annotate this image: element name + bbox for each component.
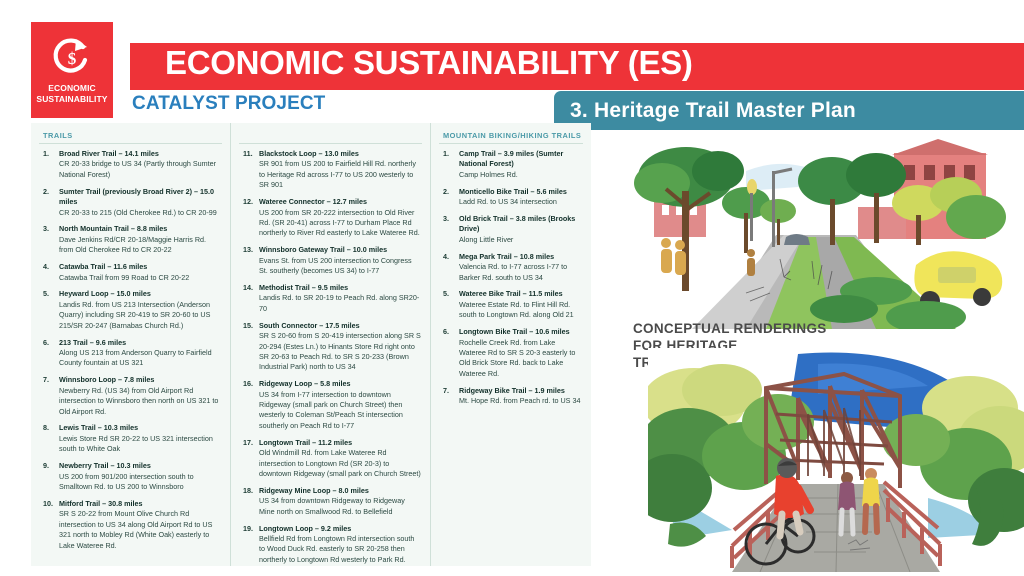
project-title-banner: 3. Heritage Trail Master Plan xyxy=(554,91,1024,130)
trail-item-body: Sumter Trail (previously Broad River 2) … xyxy=(59,187,222,218)
trail-item: 9.Newberry Trail – 10.3 milesUS 200 from… xyxy=(39,461,222,492)
trail-item: 11.Blackstock Loop – 13.0 milesSR 901 fr… xyxy=(239,149,422,191)
trail-item-description: US 200 from 901/200 intersection south t… xyxy=(59,472,222,493)
trail-item-number: 8. xyxy=(39,423,59,454)
trail-item-description: CR 20-33 to 215 (Old Cherokee Rd.) to CR… xyxy=(59,208,222,218)
trail-item-description: SR S 20-22 from Mount Olive Church Rd in… xyxy=(59,509,222,551)
trail-item-body: Longtown Trail – 11.2 milesOld Windmill … xyxy=(259,438,422,480)
trail-item-number: 19. xyxy=(239,524,259,566)
trail-item: 5.Heyward Loop – 15.0 milesLandis Rd. fr… xyxy=(39,289,222,331)
trail-item-description: Landis Rd. to SR 20-19 to Peach Rd. alon… xyxy=(259,293,422,314)
trail-item-title: Mitford Trail – 30.8 miles xyxy=(59,499,222,509)
trail-item-number: 4. xyxy=(39,262,59,283)
trail-item: 4.Mega Park Trail – 10.8 milesValencia R… xyxy=(439,252,583,283)
trail-item-body: Monticello Bike Trail – 5.6 milesLadd Rd… xyxy=(459,187,583,208)
trail-item-number: 10. xyxy=(39,499,59,551)
trail-item: 10.Mitford Trail – 30.8 milesSR S 20-22 … xyxy=(39,499,222,551)
trail-item-body: Camp Trail – 3.9 miles (Sumter National … xyxy=(459,149,583,180)
trail-item: 19.Longtown Loop – 9.2 milesBellfield Rd… xyxy=(239,524,422,566)
trail-item-description: Ladd Rd. to US 34 intersection xyxy=(459,197,583,207)
trail-item-number: 14. xyxy=(239,283,259,314)
trail-item-number: 12. xyxy=(239,197,259,239)
trail-item: 17.Longtown Trail – 11.2 milesOld Windmi… xyxy=(239,438,422,480)
trail-item-description: Along Little River xyxy=(459,235,583,245)
catalyst-project-subtitle: CATALYST PROJECT xyxy=(132,93,325,115)
trail-item-description: Old Windmill Rd. from Lake Wateree Rd in… xyxy=(259,448,422,479)
trail-item-number: 5. xyxy=(439,289,459,320)
trails-column-3: MOUNTAIN BIKING/HIKING TRAILS 1.Camp Tra… xyxy=(430,123,591,566)
trail-item-number: 1. xyxy=(39,149,59,180)
trail-item-description: US 34 from I-77 intersection to downtown… xyxy=(259,390,422,432)
trail-item-body: Catawba Trail – 11.6 milesCatawba Trail … xyxy=(59,262,222,283)
trail-item-body: Heyward Loop – 15.0 milesLandis Rd. from… xyxy=(59,289,222,331)
trail-item-number: 5. xyxy=(39,289,59,331)
trail-item-body: Methodist Trail – 9.5 milesLandis Rd. to… xyxy=(259,283,422,314)
trail-item-title: Methodist Trail – 9.5 miles xyxy=(259,283,422,293)
trail-item-body: Wateree Connector – 12.7 milesUS 200 fro… xyxy=(259,197,422,239)
logo-caption-line1: ECONOMIC xyxy=(31,83,113,94)
trail-item-number: 13. xyxy=(239,245,259,276)
trail-item-number: 16. xyxy=(239,379,259,431)
trail-item-number: 1. xyxy=(439,149,459,180)
renderings-caption-line1: CONCEPTUAL RENDERINGS xyxy=(633,320,827,337)
trail-item: 8.Lewis Trail – 10.3 milesLewis Store Rd… xyxy=(39,423,222,454)
trail-item-title: Ridgeway Bike Trail – 1.9 miles xyxy=(459,386,583,396)
trail-item-number: 7. xyxy=(39,375,59,417)
logo-caption: ECONOMIC SUSTAINABILITY xyxy=(31,83,113,105)
trail-item-body: Lewis Trail – 10.3 milesLewis Store Rd S… xyxy=(59,423,222,454)
header-red-bar: ECONOMIC SUSTAINABILITY (ES) xyxy=(130,43,1024,90)
trail-item-number: 6. xyxy=(39,338,59,369)
trails-column-1: TRAILS 1.Broad River Trail – 14.1 milesC… xyxy=(31,123,230,566)
trail-item-title: Longtown Loop – 9.2 miles xyxy=(259,524,422,534)
slide-root: ECONOMIC SUSTAINABILITY (ES) $ ECONOMIC … xyxy=(0,0,1024,576)
trails-column-2-header xyxy=(239,129,422,144)
trail-item-description: SR S 20-60 from S 20-419 intersection al… xyxy=(259,331,422,373)
trail-item-description: CR 20-33 bridge to US 34 (Partly through… xyxy=(59,159,222,180)
trail-item-description: Catawba Trail from 99 Road to CR 20-22 xyxy=(59,273,222,283)
trail-item-title: Mega Park Trail – 10.8 miles xyxy=(459,252,583,262)
trail-item: 5.Wateree Bike Trail – 11.5 milesWateree… xyxy=(439,289,583,320)
trail-item-number: 6. xyxy=(439,327,459,379)
trail-item-body: Ridgeway Loop – 5.8 milesUS 34 from I-77… xyxy=(259,379,422,431)
trail-item-title: South Connector – 17.5 miles xyxy=(259,321,422,331)
trail-item: 6.Longtown Bike Trail – 10.6 milesRochel… xyxy=(439,327,583,379)
trail-item-number: 2. xyxy=(39,187,59,218)
trail-item: 13.Winnsboro Gateway Trail – 10.0 milesE… xyxy=(239,245,422,276)
trail-item-description: Bellfield Rd from Longtown Rd intersecti… xyxy=(259,534,422,565)
trail-item-title: Longtown Trail – 11.2 miles xyxy=(259,438,422,448)
trail-item-body: Old Brick Trail – 3.8 miles (Brooks Driv… xyxy=(459,214,583,245)
trail-item-title: Winnsboro Gateway Trail – 10.0 miles xyxy=(259,245,422,255)
trail-item-description: Landis Rd. from US 213 Intersection (And… xyxy=(59,300,222,331)
trails-list-2: 11.Blackstock Loop – 13.0 milesSR 901 fr… xyxy=(239,149,422,565)
trail-item-number: 3. xyxy=(39,224,59,255)
trails-column-2: 11.Blackstock Loop – 13.0 milesSR 901 fr… xyxy=(230,123,430,566)
trail-item: 16.Ridgeway Loop – 5.8 milesUS 34 from I… xyxy=(239,379,422,431)
trail-item-description: Wateree Estate Rd. to Flint Hill Rd. sou… xyxy=(459,300,583,321)
trails-list-1: 1.Broad River Trail – 14.1 milesCR 20-33… xyxy=(39,149,222,551)
trails-list-3: 1.Camp Trail – 3.9 miles (Sumter Nationa… xyxy=(439,149,583,407)
trail-item-title: Newberry Trail – 10.3 miles xyxy=(59,461,222,471)
trail-item-description: US 34 from downtown Ridgeway to Ridgeway… xyxy=(259,496,422,517)
trail-item-body: Winnsboro Loop – 7.8 milesNewberry Rd. (… xyxy=(59,375,222,417)
logo-caption-line2: SUSTAINABILITY xyxy=(31,94,113,105)
trail-item-number: 18. xyxy=(239,486,259,517)
trail-item: 3.Old Brick Trail – 3.8 miles (Brooks Dr… xyxy=(439,214,583,245)
trail-item-title: Sumter Trail (previously Broad River 2) … xyxy=(59,187,222,208)
trail-item-body: Mitford Trail – 30.8 milesSR S 20-22 fro… xyxy=(59,499,222,551)
trail-item: 1.Camp Trail – 3.9 miles (Sumter Nationa… xyxy=(439,149,583,180)
trail-item-title: Heyward Loop – 15.0 miles xyxy=(59,289,222,299)
trail-item-title: Ridgeway Mine Loop – 8.0 miles xyxy=(259,486,422,496)
trail-item-title: Broad River Trail – 14.1 miles xyxy=(59,149,222,159)
trail-item-title: Camp Trail – 3.9 miles (Sumter National … xyxy=(459,149,583,170)
trail-item-description: Mt. Hope Rd. from Peach rd. to US 34 xyxy=(459,396,583,406)
trail-item-title: Longtown Bike Trail – 10.6 miles xyxy=(459,327,583,337)
trail-item: 4.Catawba Trail – 11.6 milesCatawba Trai… xyxy=(39,262,222,283)
trail-item-body: Winnsboro Gateway Trail – 10.0 milesEvan… xyxy=(259,245,422,276)
trail-item-description: Valencia Rd. to I-77 across I-77 to Bark… xyxy=(459,262,583,283)
trail-item-description: Along US 213 from Anderson Quarry to Fai… xyxy=(59,348,222,369)
trail-item: 2.Monticello Bike Trail – 5.6 milesLadd … xyxy=(439,187,583,208)
trail-item-body: Ridgeway Bike Trail – 1.9 milesMt. Hope … xyxy=(459,386,583,407)
trails-column-3-header: MOUNTAIN BIKING/HIKING TRAILS xyxy=(439,129,583,144)
trail-item-description: US 200 from SR 20-222 intersection to Ol… xyxy=(259,208,422,239)
trail-item-number: 15. xyxy=(239,321,259,373)
trail-item: 3.North Mountain Trail – 8.8 milesDave J… xyxy=(39,224,222,255)
trail-item: 7.Ridgeway Bike Trail – 1.9 milesMt. Hop… xyxy=(439,386,583,407)
trail-item-number: 3. xyxy=(439,214,459,245)
trail-item-body: Longtown Bike Trail – 10.6 milesRochelle… xyxy=(459,327,583,379)
trail-item-description: Rochelle Creek Rd. from Lake Wateree Rd … xyxy=(459,338,583,380)
trail-item: 2.Sumter Trail (previously Broad River 2… xyxy=(39,187,222,218)
trail-item-description: SR 901 from US 200 to Fairfield Hill Rd.… xyxy=(259,159,422,190)
trail-item-description: Dave Jenkins Rd/CR 20-18/Maggie Harris R… xyxy=(59,235,222,256)
page-title: ECONOMIC SUSTAINABILITY (ES) xyxy=(165,44,693,82)
economic-sustainability-logo: $ ECONOMIC SUSTAINABILITY xyxy=(31,22,113,118)
trail-item-body: Broad River Trail – 14.1 milesCR 20-33 b… xyxy=(59,149,222,180)
trail-item-number: 2. xyxy=(439,187,459,208)
trail-item: 15.South Connector – 17.5 milesSR S 20-6… xyxy=(239,321,422,373)
project-title-label: 3. Heritage Trail Master Plan xyxy=(554,99,856,123)
trail-item-title: Ridgeway Loop – 5.8 miles xyxy=(259,379,422,389)
trail-item-title: North Mountain Trail – 8.8 miles xyxy=(59,224,222,234)
trail-item-description: Lewis Store Rd SR 20-22 to US 321 inters… xyxy=(59,434,222,455)
trail-item-body: Newberry Trail – 10.3 milesUS 200 from 9… xyxy=(59,461,222,492)
trail-item-title: Catawba Trail – 11.6 miles xyxy=(59,262,222,272)
trail-item-description: Newberry Rd. (US 34) from Old Airport Rd… xyxy=(59,386,222,417)
bridge-rendering-image xyxy=(648,348,1024,572)
trail-item: 1.Broad River Trail – 14.1 milesCR 20-33… xyxy=(39,149,222,180)
trail-item: 12.Wateree Connector – 12.7 milesUS 200 … xyxy=(239,197,422,239)
trail-item-body: Longtown Loop – 9.2 milesBellfield Rd fr… xyxy=(259,524,422,566)
trail-item-title: Blackstock Loop – 13.0 miles xyxy=(259,149,422,159)
trail-item-title: Lewis Trail – 10.3 miles xyxy=(59,423,222,433)
trail-item: 7.Winnsboro Loop – 7.8 milesNewberry Rd.… xyxy=(39,375,222,417)
trail-item-body: 213 Trail – 9.6 milesAlong US 213 from A… xyxy=(59,338,222,369)
trail-item-number: 17. xyxy=(239,438,259,480)
trail-item-body: North Mountain Trail – 8.8 milesDave Jen… xyxy=(59,224,222,255)
trail-item-title: Wateree Connector – 12.7 miles xyxy=(259,197,422,207)
trail-item: 14.Methodist Trail – 9.5 milesLandis Rd.… xyxy=(239,283,422,314)
trail-item-body: Mega Park Trail – 10.8 milesValencia Rd.… xyxy=(459,252,583,283)
trail-item-number: 4. xyxy=(439,252,459,283)
trail-item: 18.Ridgeway Mine Loop – 8.0 milesUS 34 f… xyxy=(239,486,422,517)
trail-item-body: Ridgeway Mine Loop – 8.0 milesUS 34 from… xyxy=(259,486,422,517)
circular-arrow-dollar-icon: $ xyxy=(31,34,113,80)
trail-item-description: Camp Holmes Rd. xyxy=(459,170,583,180)
trail-item-body: Blackstock Loop – 13.0 milesSR 901 from … xyxy=(259,149,422,191)
trail-item-title: Monticello Bike Trail – 5.6 miles xyxy=(459,187,583,197)
trails-column-1-header: TRAILS xyxy=(39,129,222,144)
trail-item-body: South Connector – 17.5 milesSR S 20-60 f… xyxy=(259,321,422,373)
streetscape-rendering-image xyxy=(626,131,1020,329)
trails-panel: TRAILS 1.Broad River Trail – 14.1 milesC… xyxy=(31,123,591,566)
trail-item-body: Wateree Bike Trail – 11.5 milesWateree E… xyxy=(459,289,583,320)
trail-item-title: Wateree Bike Trail – 11.5 miles xyxy=(459,289,583,299)
trail-item-title: 213 Trail – 9.6 miles xyxy=(59,338,222,348)
trail-item: 6.213 Trail – 9.6 milesAlong US 213 from… xyxy=(39,338,222,369)
trail-item-number: 9. xyxy=(39,461,59,492)
trail-item-title: Old Brick Trail – 3.8 miles (Brooks Driv… xyxy=(459,214,583,235)
trail-item-number: 11. xyxy=(239,149,259,191)
trail-item-title: Winnsboro Loop – 7.8 miles xyxy=(59,375,222,385)
svg-text:$: $ xyxy=(68,49,77,68)
trail-item-description: Evans St. from US 200 intersection to Co… xyxy=(259,256,422,277)
trail-item-number: 7. xyxy=(439,386,459,407)
